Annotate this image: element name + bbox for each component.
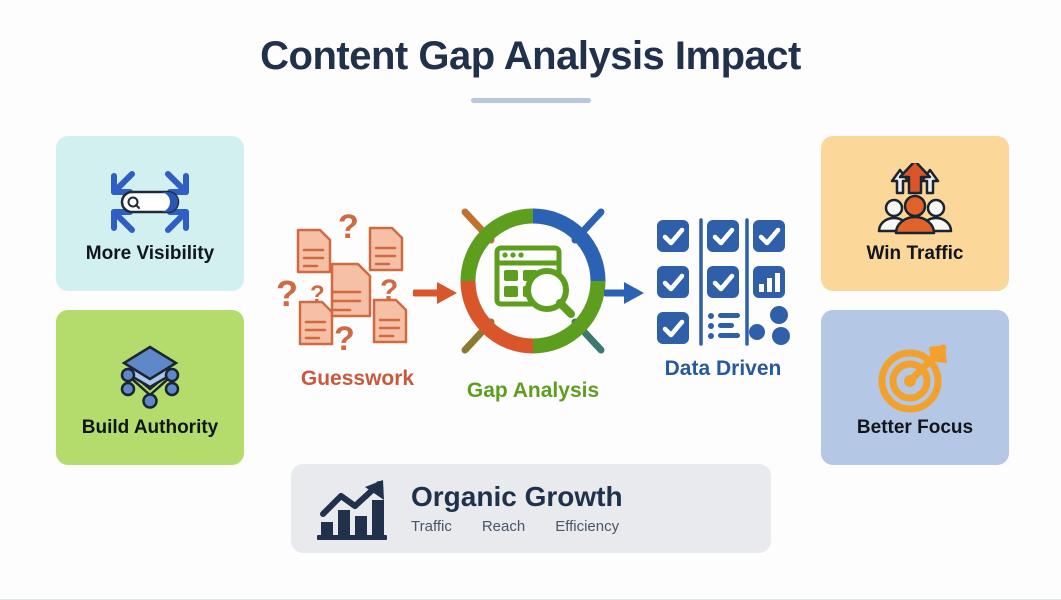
organic-growth-title: Organic Growth xyxy=(411,482,623,513)
svg-text:?: ? xyxy=(334,320,355,358)
title-block: Content Gap Analysis Impact xyxy=(0,34,1061,103)
organic-growth-panel[interactable]: Organic Growth Traffic Reach Efficiency xyxy=(291,464,771,553)
bar-chart-uptrend-icon xyxy=(317,478,389,540)
flow-label-gap-analysis: Gap Analysis xyxy=(443,379,623,403)
page-title: Content Gap Analysis Impact xyxy=(0,34,1061,78)
growth-metric-traffic: Traffic xyxy=(411,518,452,535)
growth-metric-reach: Reach xyxy=(482,518,525,535)
svg-text:?: ? xyxy=(276,273,298,314)
benefit-label-authority: Build Authority xyxy=(82,417,219,439)
svg-text:?: ? xyxy=(338,208,359,246)
benefit-label-focus: Better Focus xyxy=(857,417,973,439)
flow-label-guesswork: Guesswork xyxy=(270,367,445,391)
svg-text:?: ? xyxy=(310,281,325,308)
title-underline xyxy=(471,98,591,103)
svg-text:?: ? xyxy=(380,274,398,307)
flow-stage-data-driven[interactable]: Data Driven xyxy=(638,216,808,381)
checklist-charts-grid-icon xyxy=(638,216,808,353)
infographic-canvas: Content Gap Analysis Impact xyxy=(0,0,1061,600)
organic-growth-text: Organic Growth Traffic Reach Efficiency xyxy=(411,482,623,536)
process-flow: ? ? ? ? ? Guesswork xyxy=(0,198,1061,413)
organic-growth-metrics: Traffic Reach Efficiency xyxy=(411,518,623,535)
flow-stage-gap-analysis[interactable]: Gap Analysis xyxy=(443,198,623,403)
browser-magnifier-ring-icon xyxy=(443,198,623,375)
flow-label-data-driven: Data Driven xyxy=(638,357,808,381)
growth-metric-efficiency: Efficiency xyxy=(555,518,619,535)
